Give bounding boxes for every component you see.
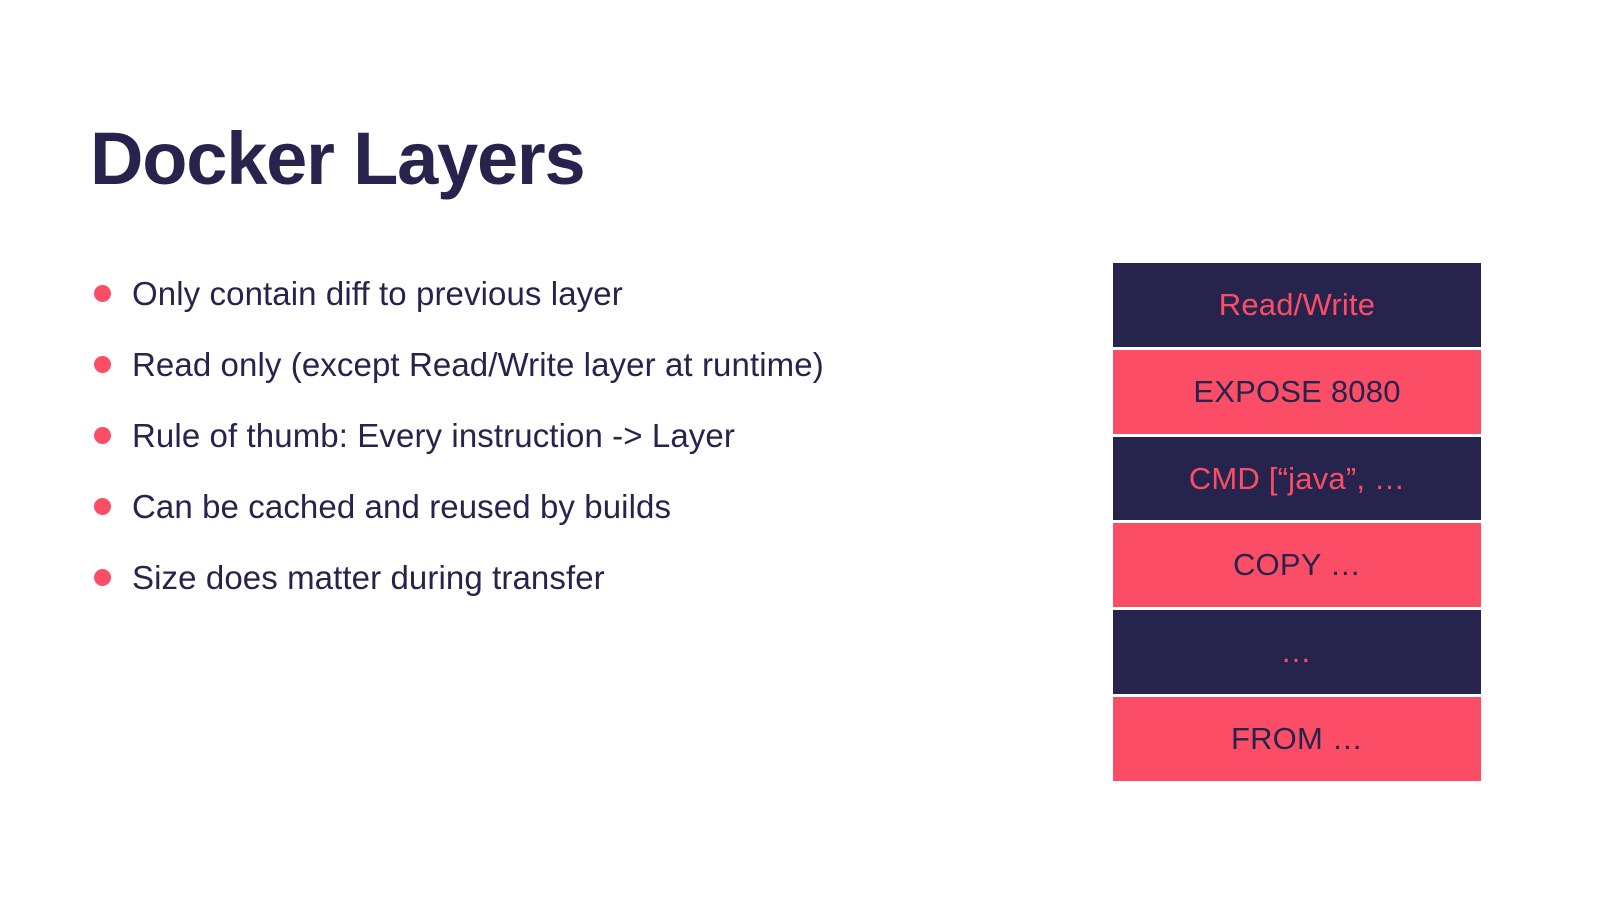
list-item: Rule of thumb: Every instruction -> Laye… [90, 400, 1050, 471]
list-item-label: Only contain diff to previous layer [132, 275, 623, 313]
bullet-dot-icon [94, 569, 111, 586]
list-item: Only contain diff to previous layer [90, 258, 1050, 329]
bullet-dot-icon [94, 356, 111, 373]
list-item-label: Can be cached and reused by builds [132, 488, 671, 526]
layer-block-label: FROM … [1231, 721, 1363, 757]
layer-block-label: … [1281, 634, 1314, 670]
layer-block-from: FROM … [1113, 697, 1481, 781]
list-item: Can be cached and reused by builds [90, 471, 1050, 542]
layer-block-label: COPY … [1233, 547, 1361, 583]
layer-block-read-write: Read/Write [1113, 263, 1481, 347]
layer-block-expose: EXPOSE 8080 [1113, 350, 1481, 434]
slide-root: Docker Layers Only contain diff to previ… [0, 0, 1600, 900]
layer-block-cmd: CMD [“java”, … [1113, 437, 1481, 521]
list-item-label: Rule of thumb: Every instruction -> Laye… [132, 417, 735, 455]
bullet-dot-icon [94, 427, 111, 444]
layer-block-label: EXPOSE 8080 [1193, 374, 1400, 410]
list-item-label: Read only (except Read/Write layer at ru… [132, 346, 824, 384]
layer-block-label: CMD [“java”, … [1189, 461, 1405, 497]
layer-block-ellipsis: … [1113, 610, 1481, 694]
layer-block-label: Read/Write [1219, 287, 1376, 323]
bullet-dot-icon [94, 285, 111, 302]
page-title: Docker Layers [90, 122, 585, 196]
layer-stack-diagram: Read/Write EXPOSE 8080 CMD [“java”, … CO… [1113, 263, 1481, 781]
list-item: Size does matter during transfer [90, 542, 1050, 613]
bullet-list: Only contain diff to previous layer Read… [90, 258, 1050, 613]
bullet-dot-icon [94, 498, 111, 515]
list-item: Read only (except Read/Write layer at ru… [90, 329, 1050, 400]
list-item-label: Size does matter during transfer [132, 559, 605, 597]
layer-block-copy: COPY … [1113, 523, 1481, 607]
